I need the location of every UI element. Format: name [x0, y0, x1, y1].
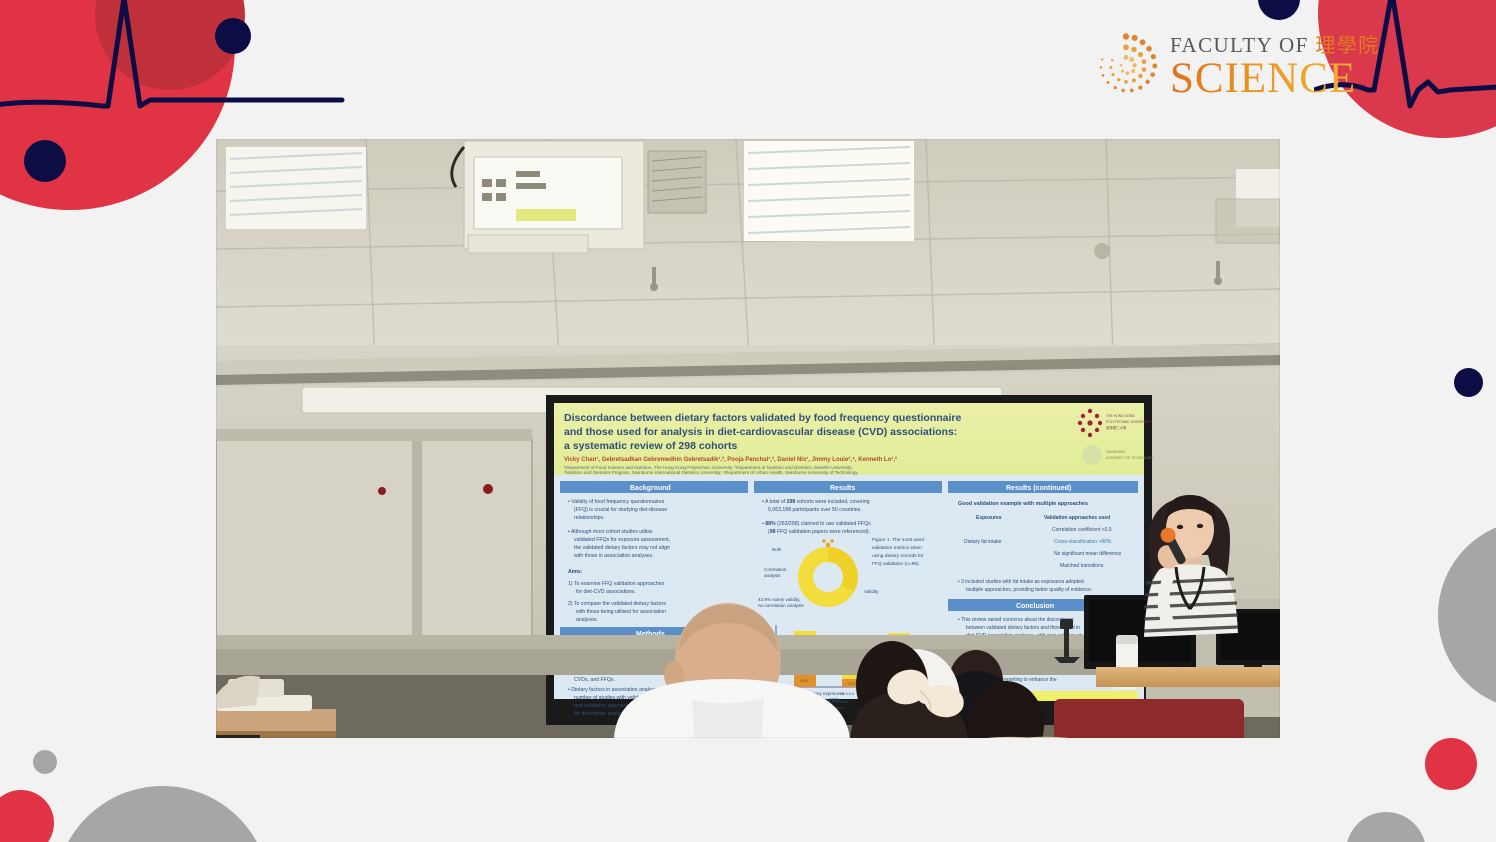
svg-text:with those in association anal: with those in association analyses.	[574, 553, 654, 559]
svg-text:Correlation coefficient >0.3: Correlation coefficient >0.3	[1052, 527, 1112, 533]
svg-text:with those being utilised for: with those being utilised for associatio…	[576, 609, 666, 615]
svg-text:³Nutrition and Dietetics Progr: ³Nutrition and Dietetics Program, Swinbu…	[564, 470, 858, 475]
svg-text:5,063,188 participants over 50: 5,063,188 participants over 50 countries…	[768, 507, 862, 513]
svg-text:using dietary records for: using dietary records for	[872, 553, 924, 559]
svg-text:Dietary fat intake: Dietary fat intake	[964, 539, 1002, 545]
svg-text:relationships.: relationships.	[574, 515, 605, 521]
svg-text:(FFQ) is crucial for studying: (FFQ) is crucial for studying diet-disea…	[574, 507, 667, 513]
decor-dot-red-bottom-right	[1425, 738, 1477, 790]
svg-text:Correlation: Correlation	[764, 567, 787, 572]
svg-text:• Although most cohort studies: • Although most cohort studies utilise	[568, 529, 653, 535]
decor-dot-gray-bottom-left	[33, 750, 57, 774]
svg-text:and those used for analysis in: and those used for analysis in diet-card…	[564, 426, 957, 438]
svg-text:• A total of 298 cohorts were: • A total of 298 cohorts were included, …	[762, 499, 870, 505]
decor-dot-navy-right	[1454, 368, 1483, 397]
logo-wordmark: FACULTY OF 理學院 SCIENCE	[1170, 33, 1380, 100]
svg-text:香港理工大學: 香港理工大學	[1106, 425, 1127, 430]
svg-text:Cross-classification >80%: Cross-classification >80%	[1054, 539, 1112, 545]
logo-text-science: SCIENCE	[1170, 57, 1380, 100]
svg-text:CVDs, and FFQs.: CVDs, and FFQs.	[574, 677, 615, 683]
logo-text-chinese: 理學院	[1315, 33, 1379, 57]
decor-circle-gray-bottom-left	[55, 786, 270, 842]
decor-circle-gray-bottom	[1346, 812, 1426, 842]
svg-text:Matched transitions: Matched transitions	[1060, 563, 1104, 569]
seminar-photograph: Discordance between dietary factors vali…	[216, 139, 1280, 738]
svg-text:SWINBURNE: SWINBURNE	[1106, 450, 1125, 454]
svg-text:multiple approaches, providing: multiple approaches, providing better qu…	[966, 587, 1092, 593]
svg-text:validated FFQs for exposure as: validated FFQs for exposure assessment,	[574, 537, 670, 543]
svg-text:a systematic review of 298 coh: a systematic review of 298 cohorts	[564, 440, 737, 452]
decor-circle-gray-bottom-right	[1438, 520, 1496, 710]
svg-text:analyses.: analyses.	[576, 617, 598, 623]
svg-text:for diet-CVD associations.: for diet-CVD associations.	[576, 589, 636, 595]
svg-text:Results (continued): Results (continued)	[1006, 485, 1071, 492]
svg-text:Discordance between dietary fa: Discordance between dietary factors vali…	[564, 412, 962, 424]
svg-text:POLYTECHNIC UNIVERSITY: POLYTECHNIC UNIVERSITY	[1106, 420, 1152, 424]
svg-text:• This review raised concerns: • This review raised concerns about the …	[958, 617, 1074, 623]
svg-text:the validated dietary factors: the validated dietary factors may not al…	[574, 545, 670, 551]
svg-text:Both: Both	[772, 547, 782, 552]
svg-text:THE HONG KONG: THE HONG KONG	[1106, 414, 1135, 418]
svg-text:2) To compare the validated di: 2) To compare the validated dietary fact…	[568, 601, 666, 607]
svg-text:Conclusion: Conclusion	[1016, 603, 1054, 610]
svg-text:• 3 included studies with fat: • 3 included studies with fat intake as …	[958, 579, 1084, 585]
logo-line-faculty-of: FACULTY OF 理學院	[1170, 35, 1380, 56]
svg-text:FFQ validation (n=98).: FFQ validation (n=98).	[872, 561, 920, 567]
logo-text-faculty-of: FACULTY OF	[1170, 33, 1309, 57]
svg-text:Validity: Validity	[864, 589, 879, 594]
svg-text:UNIVERSITY OF TECHNOLOGY: UNIVERSITY OF TECHNOLOGY	[1106, 456, 1154, 460]
svg-text:Exposures: Exposures	[976, 515, 1002, 521]
svg-text:analysis: analysis	[764, 573, 781, 578]
spiral-dots-logo-icon	[1090, 30, 1162, 102]
faculty-of-science-logo: FACULTY OF 理學院 SCIENCE	[1090, 26, 1380, 106]
svg-text:43.9% solely validity,: 43.9% solely validity,	[758, 597, 800, 602]
decor-dot-navy-top-left	[215, 18, 251, 54]
svg-text:(98 FFQ validation papers were: (98 FFQ validation papers were reference…	[768, 529, 870, 535]
svg-text:Background: Background	[630, 485, 671, 492]
svg-text:validation metrics when: validation metrics when	[872, 545, 922, 551]
presenter-figure	[1144, 495, 1238, 637]
svg-text:Vicky Chan¹, Gebretsadkan Gebr: Vicky Chan¹, Gebretsadkan Gebremedhin Ge…	[564, 456, 897, 463]
svg-text:Results: Results	[830, 485, 855, 492]
svg-text:Good validation example with m: Good validation example with multiple ap…	[958, 501, 1088, 507]
decor-dot-red-bottom-left	[0, 790, 54, 842]
svg-text:no correlation analysis: no correlation analysis	[758, 603, 804, 608]
seminar-photo-illustration: Discordance between dietary factors vali…	[216, 139, 1280, 738]
svg-text:28%: 28%	[800, 678, 808, 683]
slide-canvas: FACULTY OF 理學院 SCIENCE	[0, 0, 1496, 842]
svg-text:Validation approaches used: Validation approaches used	[1044, 515, 1110, 521]
svg-text:17%: 17%	[848, 681, 856, 686]
svg-text:No significant mean difference: No significant mean difference	[1054, 551, 1121, 557]
decor-dot-navy-upper-left	[24, 140, 66, 182]
svg-text:Figure 1. The most used: Figure 1. The most used	[872, 537, 924, 543]
svg-text:• 88% (263/298) claimed to use: • 88% (263/298) claimed to use validated…	[762, 521, 871, 527]
svg-text:Aims:: Aims:	[568, 569, 583, 575]
decor-dot-navy-top-right	[1258, 0, 1300, 20]
svg-text:• Validity of food frequency q: • Validity of food frequency questionnai…	[568, 499, 665, 505]
svg-text:1) To examine FFQ validation a: 1) To examine FFQ validation approaches	[568, 581, 665, 587]
